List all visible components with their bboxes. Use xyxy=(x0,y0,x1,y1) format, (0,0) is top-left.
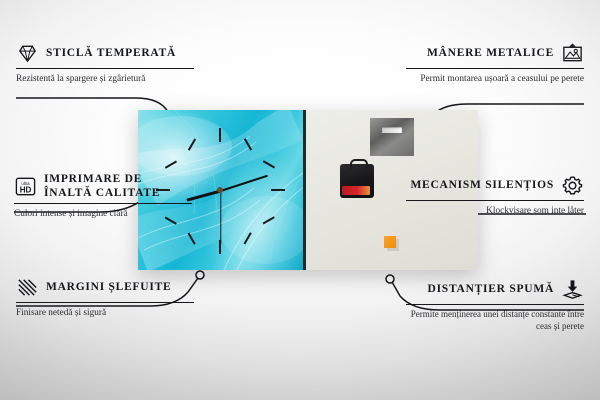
clock-mechanism xyxy=(340,164,374,198)
press-down-pad-icon xyxy=(561,278,584,301)
tick-7 xyxy=(188,232,196,244)
feature-title: MECANISM SILENȚIOS xyxy=(410,178,554,192)
second-hand xyxy=(220,191,221,244)
divider xyxy=(406,200,584,201)
feature-title: DISTANȚIER SPUMĂ xyxy=(428,282,554,296)
feature-title: STICLĂ TEMPERATĂ xyxy=(46,46,176,60)
diagonal-lines-icon xyxy=(16,276,39,299)
feature-metal-handles: MÂNERE METALICE Permit montarea ușoară a… xyxy=(406,42,584,85)
gear-icon xyxy=(561,174,584,197)
tick-5 xyxy=(244,232,252,244)
feature-subtitle: Finisare netedă și sigură xyxy=(16,307,194,319)
tick-2 xyxy=(263,161,275,169)
hanger-slot xyxy=(382,127,402,133)
divider xyxy=(16,302,194,303)
feature-tempered-glass: STICLĂ TEMPERATĂ Rezistentă la spargere … xyxy=(16,42,194,85)
clock-center-pin xyxy=(217,187,223,193)
foam-spacer xyxy=(384,236,396,248)
minute-hand xyxy=(220,175,267,192)
tick-12 xyxy=(219,128,221,142)
tick-10 xyxy=(165,161,177,169)
ultra-hd-icon: ultra HD xyxy=(14,175,37,198)
feature-silent-mechanism: MECANISM SILENȚIOS Klockvisare som inte … xyxy=(406,174,584,217)
divider xyxy=(14,203,192,204)
tick-3 xyxy=(271,189,285,191)
feature-title: MARGINI ȘLEFUITE xyxy=(46,280,171,294)
feature-subtitle: Permit montarea ușoară a ceasului pe per… xyxy=(406,73,584,85)
hanging-picture-icon xyxy=(561,42,584,65)
feature-polished-edges: MARGINI ȘLEFUITE Finisare netedă și sigu… xyxy=(16,276,194,319)
metal-hanger xyxy=(370,118,414,156)
feature-title: IMPRIMARE DE ÎNALTĂ CALITATE xyxy=(44,172,192,200)
infographic-stage: STICLĂ TEMPERATĂ Rezistentă la spargere … xyxy=(0,0,600,400)
feature-subtitle: Permite menținerea unei distanțe constan… xyxy=(406,309,584,332)
mechanism-loop xyxy=(350,159,368,169)
svg-text:HD: HD xyxy=(20,185,32,194)
feature-subtitle: Klockvisare som inte låter xyxy=(406,205,584,217)
divider xyxy=(406,68,584,69)
feature-subtitle: Culori intense și imagine clară xyxy=(14,208,192,220)
feature-subtitle: Rezistentă la spargere și zgârietură xyxy=(16,73,194,85)
divider xyxy=(16,68,194,69)
feature-title: MÂNERE METALICE xyxy=(427,46,554,60)
diamond-icon xyxy=(16,42,39,65)
tick-4 xyxy=(263,217,275,225)
tick-1 xyxy=(244,138,252,150)
battery xyxy=(342,186,370,195)
tick-11 xyxy=(188,138,196,150)
feature-foam-spacer: DISTANȚIER SPUMĂ Permite menținerea unei… xyxy=(406,278,584,333)
divider xyxy=(406,304,584,305)
feature-high-quality-print: ultra HD IMPRIMARE DE ÎNALTĂ CALITATE Cu… xyxy=(14,172,192,221)
